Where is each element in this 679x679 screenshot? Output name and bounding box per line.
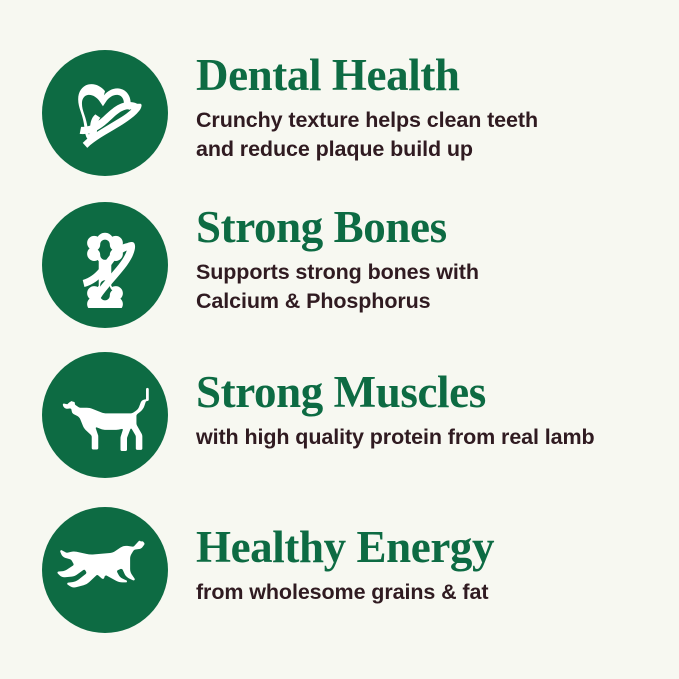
benefit-description-line: Calcium & Phosphorus [196,287,669,316]
benefit-text-block: Dental Health Crunchy texture helps clea… [196,53,669,163]
benefit-title: Strong Bones [196,205,669,250]
leaping-dog-icon [57,522,153,618]
leaping-dog-icon-badge [42,507,168,633]
benefit-title: Healthy Energy [196,525,669,570]
benefit-description: Crunchy texture helps clean teeth and re… [196,106,669,163]
benefit-text-block: Healthy Energy from wholesome grains & f… [196,525,669,607]
bone-icon-badge [42,202,168,328]
benefit-text-block: Strong Muscles with high quality protein… [196,370,669,452]
benefit-title: Strong Muscles [196,370,669,415]
benefit-description: from wholesome grains & fat [196,578,669,607]
benefit-description-line: Crunchy texture helps clean teeth [196,106,669,135]
benefit-title: Dental Health [196,53,669,98]
benefit-description-line: Supports strong bones with [196,258,669,287]
tooth-icon-badge [42,50,168,176]
benefit-description-line: and reduce plaque build up [196,135,669,164]
bone-icon [62,222,148,308]
standing-dog-icon [59,369,151,461]
tooth-icon [62,70,148,156]
benefit-description: with high quality protein from real lamb [196,423,669,452]
benefit-description-line: with high quality protein from real lamb [196,423,669,452]
benefit-text-block: Strong Bones Supports strong bones with … [196,205,669,315]
benefits-panel: Dental Health Crunchy texture helps clea… [0,0,679,679]
benefit-description: Supports strong bones with Calcium & Pho… [196,258,669,315]
benefit-description-line: from wholesome grains & fat [196,578,669,607]
standing-dog-icon-badge [42,352,168,478]
